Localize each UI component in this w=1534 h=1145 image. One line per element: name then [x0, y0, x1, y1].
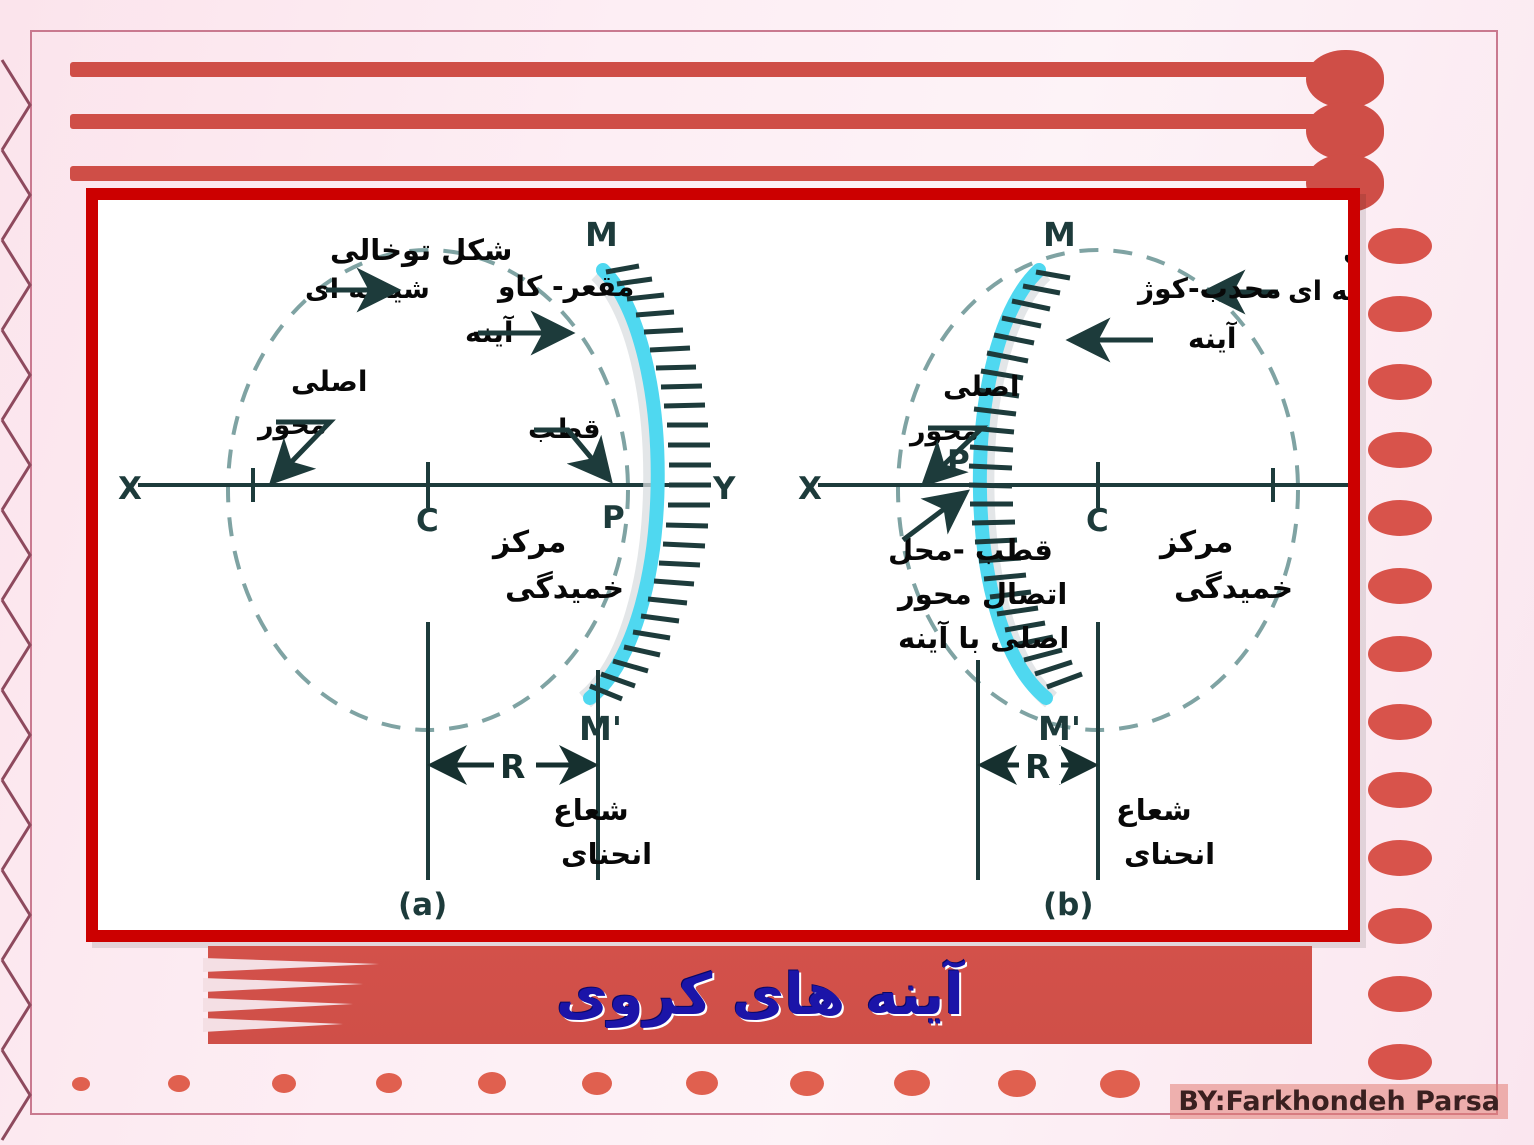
mirror-type-label-line1-left: مقعر- کاو [496, 270, 634, 303]
principal-axis-label-line1-right: اصلی [943, 370, 1019, 403]
point-m-label-left: M [585, 215, 618, 254]
pole-note-line2: اتصال محور [896, 577, 1067, 611]
center-curvature-label-line2-right: خمیدگی [1174, 570, 1293, 606]
right-oval-column [1368, 0, 1438, 1145]
figure-caption-b: (b) [1043, 887, 1094, 923]
point-c-label-right: C [1086, 503, 1109, 539]
hollow-glass-label-line2-right: شیشه ای [1288, 276, 1348, 307]
oval-decor [72, 1077, 90, 1091]
oval-decor [1368, 704, 1432, 740]
hollow-glass-label-line1-right: شکل توخالی [1343, 233, 1348, 267]
author-credit: BY:Farkhondeh Parsa [1170, 1084, 1508, 1119]
figure-caption-a: (a) [398, 887, 447, 923]
oval-decor [790, 1071, 824, 1096]
radius-caption-line1-left: شعاع [553, 793, 629, 827]
slide-title: آینه های کروی [208, 946, 1312, 1044]
oval-decor [1368, 296, 1432, 332]
principal-axis-label-line1-left: اصلی [291, 365, 367, 398]
pole-note-line1: قطب -محل [888, 533, 1053, 567]
mirror-type-label-line2-right: آینه [1188, 321, 1238, 355]
axis-y-label-left: Y [712, 471, 736, 507]
radius-caption-line2-right: انحنای [1124, 837, 1215, 871]
oval-decor [168, 1075, 190, 1092]
zigzag-border-decoration [0, 0, 42, 1145]
oval-decor [1368, 840, 1432, 876]
top-bar-3 [70, 166, 1332, 181]
oval-decor [1368, 772, 1432, 808]
radius-caption-line1-right: شعاع [1116, 793, 1192, 827]
oval-decor [1368, 228, 1432, 264]
oval-decor [1368, 500, 1432, 536]
center-curvature-label-line1-left: مرکز [491, 525, 566, 560]
oval-decor [1368, 568, 1432, 604]
slide-canvas: شکل توخالی شیشه ای مقعر- کاو آینه اصلی م… [0, 0, 1534, 1145]
radius-caption-line2-left: انحنای [561, 837, 652, 871]
center-curvature-label-line2-left: خمیدگی [505, 570, 624, 606]
oval-decor [376, 1073, 402, 1093]
top-bar-2 [70, 114, 1332, 129]
oval-decor [998, 1070, 1036, 1097]
radius-symbol-right: R [1025, 747, 1050, 786]
axis-x-label-left: X [118, 471, 142, 507]
oval-decor [1368, 908, 1432, 944]
radius-symbol-left: R [500, 747, 525, 786]
oval-decor [478, 1072, 506, 1094]
oval-decor [686, 1071, 718, 1095]
point-p-label-right: P [947, 444, 970, 480]
axis-x-label-right: X [798, 471, 822, 507]
top-bar-1 [70, 62, 1332, 77]
oval-decor [894, 1070, 930, 1096]
oval-decor [1100, 1070, 1140, 1098]
oval-decor [1368, 976, 1432, 1012]
center-curvature-label-line1-right: مرکز [1158, 525, 1233, 560]
diagram-panel: شکل توخالی شیشه ای مقعر- کاو آینه اصلی م… [86, 188, 1360, 942]
oval-decor [582, 1072, 612, 1095]
spherical-mirrors-figure: شکل توخالی شیشه ای مقعر- کاو آینه اصلی م… [98, 200, 1348, 930]
convex-mirror-diagram: شکل توخالی شیشه ای محدب-کوژ آینه اصلی مح… [798, 215, 1348, 923]
pole-note-line3: اصلی با آینه [898, 620, 1069, 655]
oval-decor [1368, 364, 1432, 400]
concave-mirror-diagram: شکل توخالی شیشه ای مقعر- کاو آینه اصلی م… [118, 215, 736, 923]
point-m-label-right: M [1043, 215, 1076, 254]
oval-decor [1368, 636, 1432, 672]
point-c-label-left: C [416, 503, 439, 539]
point-m-prime-label-right: M' [1038, 709, 1081, 748]
point-p-label-left: P [602, 500, 625, 536]
oval-decor [1368, 432, 1432, 468]
hollow-glass-label-line1-left: شکل توخالی [330, 233, 512, 267]
title-ribbon: آینه های کروی [208, 946, 1312, 1044]
oval-decor [272, 1074, 296, 1093]
point-m-prime-label-left: M' [579, 709, 622, 748]
mirror-type-label-line1-right: محدب-کوژ [1136, 272, 1281, 305]
